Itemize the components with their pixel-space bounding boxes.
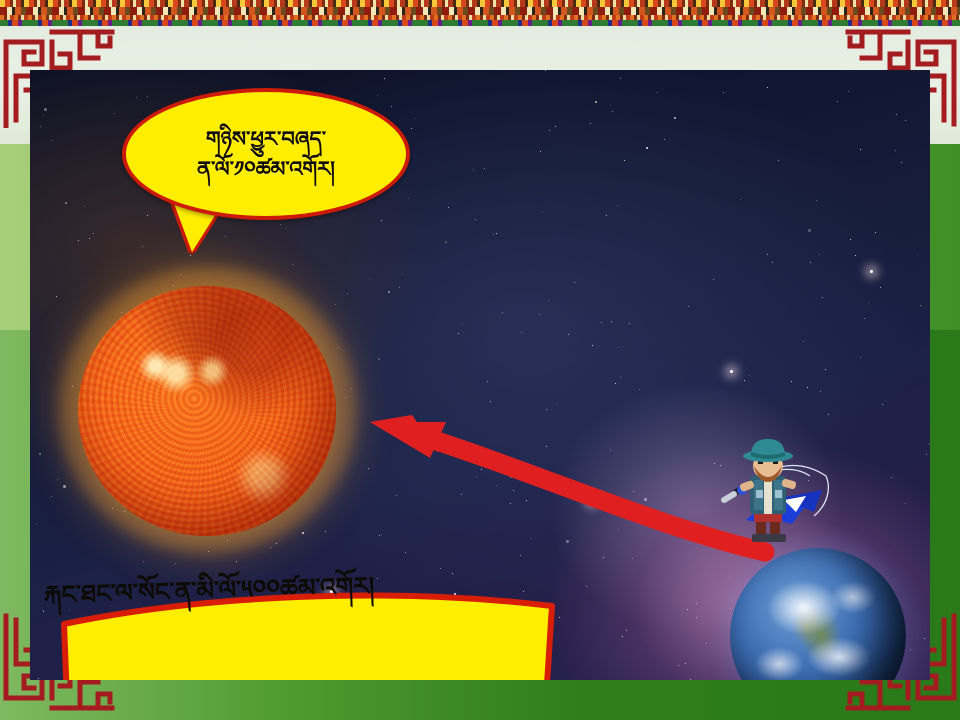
sun-speech-bubble: གཉིས་ཕྱུར་བཞད་ན་ལོ་༡༠ཚམ་འགོར།: [122, 88, 410, 220]
band-stripe-1: [0, 0, 960, 7]
sun-granulation: [78, 286, 336, 536]
band-stripe-2: [0, 7, 960, 15]
bottom-caption-banner: [58, 582, 558, 680]
sun: [78, 286, 336, 536]
pixel-art-fisherman: [718, 428, 840, 548]
legs: [752, 520, 786, 542]
trajectory-arrow-to-sun: [360, 400, 780, 570]
bucket-hat-icon: [743, 439, 793, 462]
band-stripe-4: [0, 20, 960, 26]
tibetan-woven-band: [0, 0, 960, 26]
slide-canvas: རྐང་ཐང་ལ་སོང་ན་མི་ལོ་༥༠༠ཚམ་འགོར། གཉིས་ཕྱ…: [0, 0, 960, 720]
speech-bubble-text: གཉིས་ཕྱུར་བཞད་ན་ལོ་༡༠ཚམ་འགོར།: [185, 124, 347, 185]
